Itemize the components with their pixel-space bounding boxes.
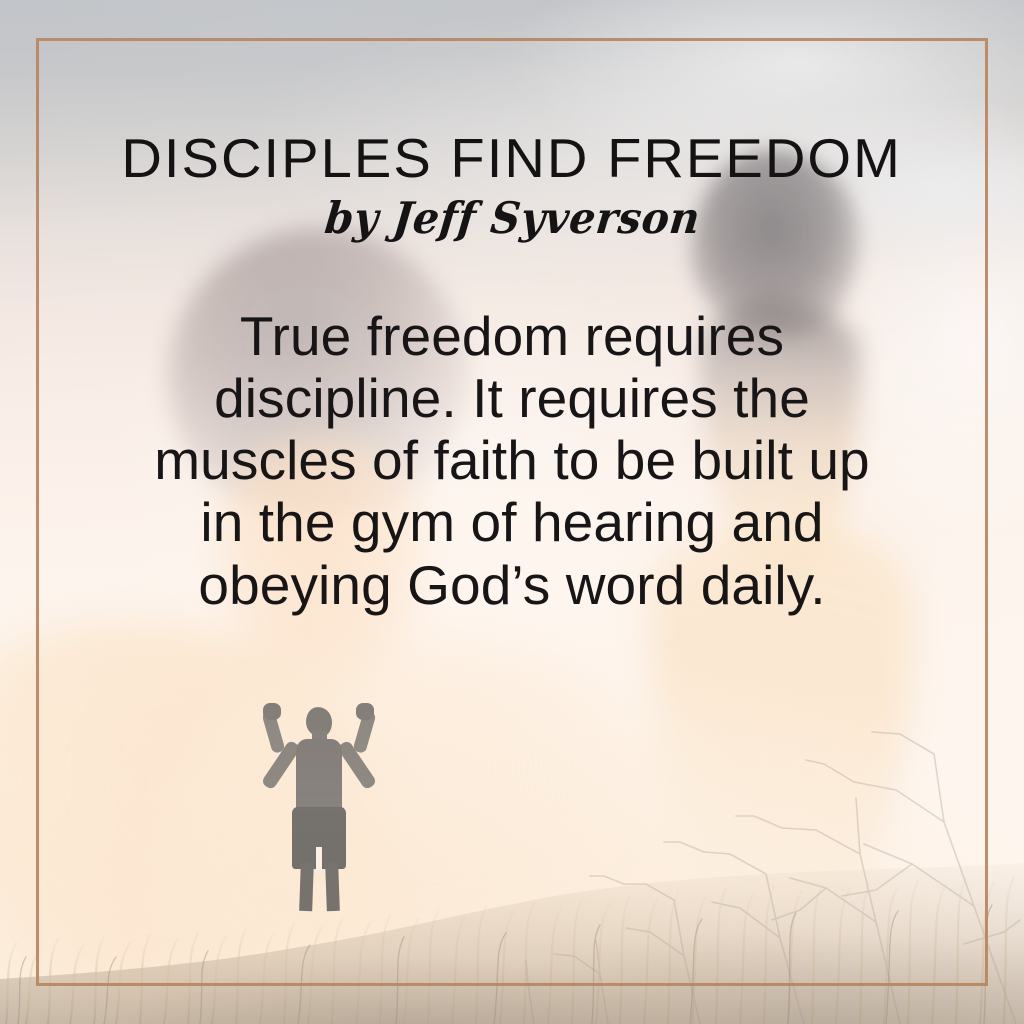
- page-title: DISCIPLES FIND FREEDOM: [122, 131, 903, 186]
- quote-line: discipline. It requires the: [72, 367, 952, 429]
- quote-line: True freedom requires: [72, 305, 952, 367]
- quote-line: muscles of faith to be built up: [72, 429, 952, 491]
- quote-line: in the gym of hearing and: [72, 491, 952, 553]
- text-content-block: DISCIPLES FIND FREEDOM by Jeff Syverson …: [0, 0, 1024, 1024]
- quote-line: obeying God’s word daily.: [72, 554, 952, 616]
- author-byline: by Jeff Syverson: [322, 197, 702, 240]
- quote-graphic-canvas: DISCIPLES FIND FREEDOM by Jeff Syverson …: [0, 0, 1024, 1024]
- quote-text: True freedom requires discipline. It req…: [72, 305, 952, 616]
